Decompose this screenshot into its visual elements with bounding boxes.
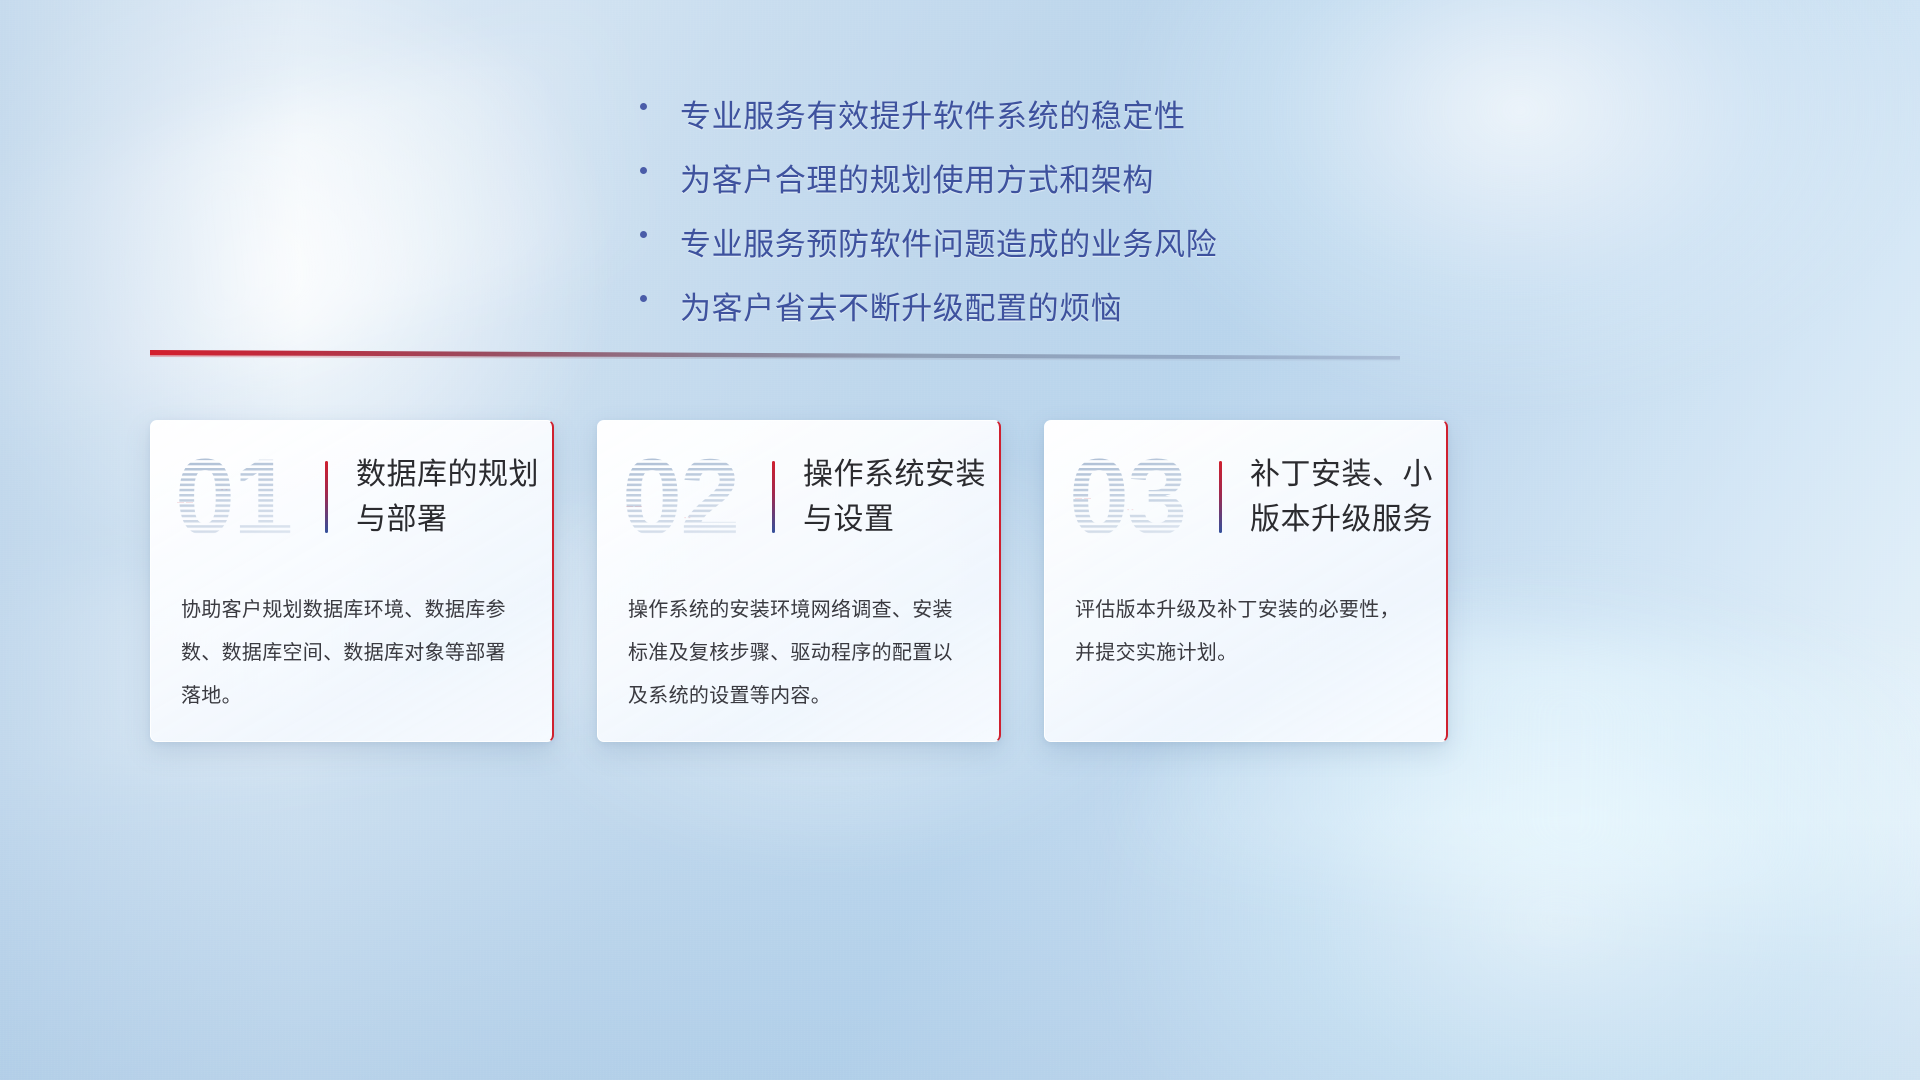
card-description: 协助客户规划数据库环境、数据库参数、数据库空间、数据库对象等部署落地。 (151, 589, 552, 718)
card-description: 评估版本升级及补丁安装的必要性，并提交实施计划。 (1045, 589, 1446, 675)
bullet-dot-icon (640, 278, 680, 302)
card-description: 操作系统的安装环境网络调查、安装标准及复核步骤、驱动程序的配置以及系统的设置等内… (598, 589, 999, 718)
card-title: 补丁安装、小 版本升级服务 (1250, 452, 1433, 542)
striped-number-icon: 03 — — - - (1069, 442, 1209, 552)
bullet-dot-icon (640, 86, 680, 110)
svg-text:- -: - - (1127, 507, 1134, 514)
service-card[interactable]: 02 — — - - 操作系统安装 与设置 操作系统的安装环境网络调查、安装标准… (597, 420, 1001, 742)
card-accent-bar (772, 461, 775, 533)
svg-text:01: 01 (175, 442, 291, 552)
svg-text:— —: — — (1075, 495, 1091, 502)
bullet-text: 专业服务有效提升软件系统的稳定性 (680, 86, 1186, 148)
striped-number-icon: 01 — — - - (175, 442, 315, 552)
service-card-list: 01 — — - - 数据库的规划 与部署 协助客户规划数据库环境、数据库参数、… (0, 420, 1920, 742)
list-item: 专业服务预防软件问题造成的业务风险 (640, 214, 1280, 278)
service-card[interactable]: 03 — — - - 补丁安装、小 版本升级服务 评估版本升级及补丁安装的必要性… (1044, 420, 1448, 742)
svg-text:- -: - - (221, 487, 228, 494)
card-header: 02 — — - - 操作系统安装 与设置 (598, 421, 999, 573)
service-card[interactable]: 01 — — - - 数据库的规划 与部署 协助客户规划数据库环境、数据库参数、… (150, 420, 554, 742)
card-number-watermark: 02 — — - - (622, 442, 762, 552)
card-accent-bar (1219, 461, 1222, 533)
benefits-bullet-list: 专业服务有效提升软件系统的稳定性 为客户合理的规划使用方式和架构 专业服务预防软… (0, 86, 1920, 342)
list-item: 专业服务有效提升软件系统的稳定性 (640, 86, 1280, 150)
card-accent-bar (325, 461, 328, 533)
list-item: 为客户省去不断升级配置的烦恼 (640, 278, 1280, 342)
card-header: 03 — — - - 补丁安装、小 版本升级服务 (1045, 421, 1446, 573)
svg-text:- -: - - (684, 515, 691, 522)
card-number-watermark: 03 — — - - (1069, 442, 1209, 552)
svg-text:02: 02 (622, 442, 738, 552)
card-header: 01 — — - - 数据库的规划 与部署 (151, 421, 552, 573)
striped-number-icon: 02 — — - - (622, 442, 762, 552)
list-item: 为客户合理的规划使用方式和架构 (640, 150, 1280, 214)
bullet-dot-icon (640, 150, 680, 174)
bullet-text: 专业服务预防软件问题造成的业务风险 (680, 214, 1217, 276)
svg-text:— —: — — (177, 499, 193, 506)
bullet-text: 为客户合理的规划使用方式和架构 (680, 150, 1154, 212)
svg-text:— —: — — (626, 503, 642, 510)
bullet-dot-icon (640, 214, 680, 238)
card-title: 数据库的规划 与部署 (356, 452, 539, 542)
card-title: 操作系统安装 与设置 (803, 452, 986, 542)
card-number-watermark: 01 — — - - (175, 442, 315, 552)
bullet-text: 为客户省去不断升级配置的烦恼 (680, 278, 1122, 340)
